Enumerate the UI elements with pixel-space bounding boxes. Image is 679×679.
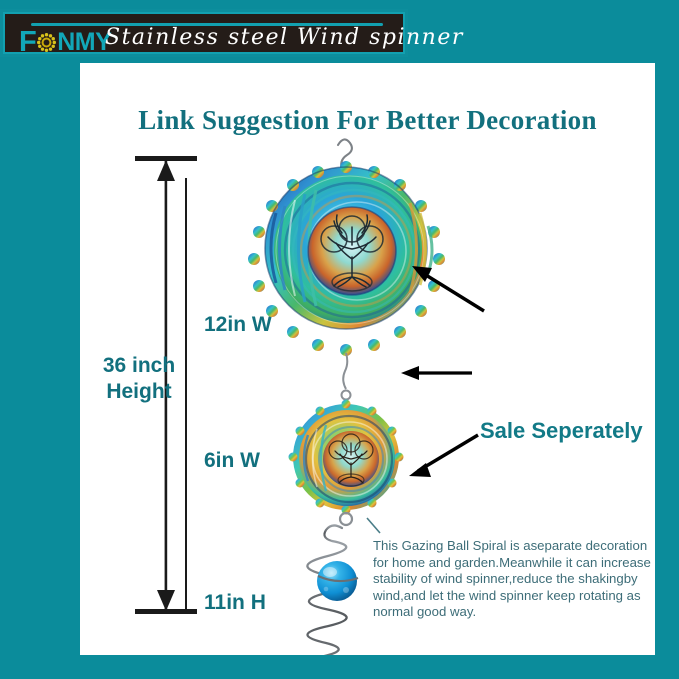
- label-spiral-height: 11in H: [204, 591, 266, 615]
- brand-banner: F NMY Stainless steel Wind sp: [0, 9, 408, 57]
- brand-tagline: Stainless steel Wind spinner: [105, 25, 464, 50]
- arrow-down-icon: [157, 590, 175, 611]
- label-large-spinner-width: 12in W: [204, 313, 272, 337]
- description-paragraph: This Gazing Ball Spiral is aseparate dec…: [373, 538, 658, 621]
- label-total-height-line2: Height: [94, 379, 184, 405]
- arrow-up-icon: [157, 160, 175, 181]
- logo-letter-f: F: [19, 28, 36, 57]
- label-total-height: 36 inch Height: [94, 353, 184, 405]
- label-total-height-line1: 36 inch: [94, 353, 184, 379]
- logo-letters-nmy: NMY: [57, 30, 111, 55]
- brand-banner-inner: F NMY Stainless steel Wind sp: [3, 12, 405, 54]
- brand-logo: F NMY: [19, 28, 111, 57]
- sunflower-icon: [37, 33, 56, 52]
- content-card: Link Suggestion For Better Decoration 36…: [80, 63, 655, 655]
- label-small-spinner-width: 6in W: [204, 449, 260, 473]
- label-sale-separately: Sale Seperately: [480, 418, 643, 444]
